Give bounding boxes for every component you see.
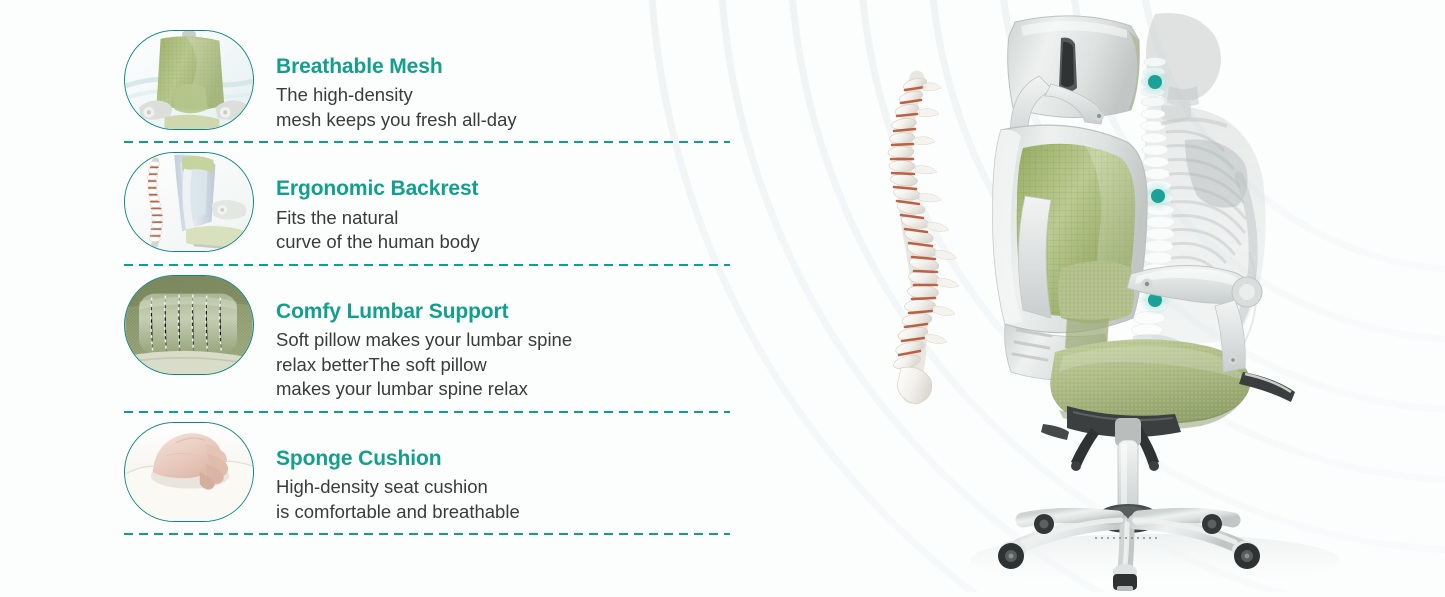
feature-description: Soft pillow makes your lumbar spine rela… — [276, 328, 572, 402]
feature-text-comfy-lumbar-support: Comfy Lumbar Support Soft pillow makes y… — [276, 275, 572, 402]
feature-list: Breathable Mesh The high-density mesh ke… — [124, 30, 734, 535]
feature-divider — [124, 533, 730, 535]
feature-divider — [124, 264, 730, 266]
hand-pressing-foam-thumbnail — [124, 422, 254, 522]
feature-title: Sponge Cushion — [276, 446, 520, 471]
feature-comfy-lumbar-support: Comfy Lumbar Support Soft pillow makes y… — [124, 275, 734, 413]
feature-sponge-cushion: Sponge Cushion High-density seat cushion… — [124, 422, 734, 535]
feature-title: Breathable Mesh — [276, 54, 517, 79]
feature-text-breathable-mesh: Breathable Mesh The high-density mesh ke… — [276, 30, 517, 132]
feature-divider — [124, 411, 730, 413]
chair-backrest-mesh-thumbnail — [124, 30, 254, 130]
anatomical-spine-illustration — [888, 76, 959, 404]
feature-text-ergonomic-backrest: Ergonomic Backrest Fits the natural curv… — [276, 152, 480, 254]
feature-text-sponge-cushion: Sponge Cushion High-density seat cushion… — [276, 422, 520, 524]
feature-description: The high-density mesh keeps you fresh al… — [276, 83, 517, 132]
feature-title: Ergonomic Backrest — [276, 176, 480, 201]
feature-title: Comfy Lumbar Support — [276, 299, 572, 324]
lumbar-pillow-thumbnail — [124, 275, 254, 375]
chair-spine-backrest-thumbnail — [124, 152, 254, 252]
feature-description: High-density seat cushion is comfortable… — [276, 475, 520, 524]
feature-divider — [124, 141, 730, 143]
product-illustration-svg — [855, 0, 1445, 592]
ergonomic-office-chair-with-skeleton-overlay — [855, 0, 1445, 592]
skeleton-torso-overlay — [1132, 13, 1266, 372]
feature-ergonomic-backrest: Ergonomic Backrest Fits the natural curv… — [124, 152, 734, 265]
feature-description: Fits the natural curve of the human body — [276, 206, 480, 255]
feature-breathable-mesh: Breathable Mesh The high-density mesh ke… — [124, 30, 734, 143]
